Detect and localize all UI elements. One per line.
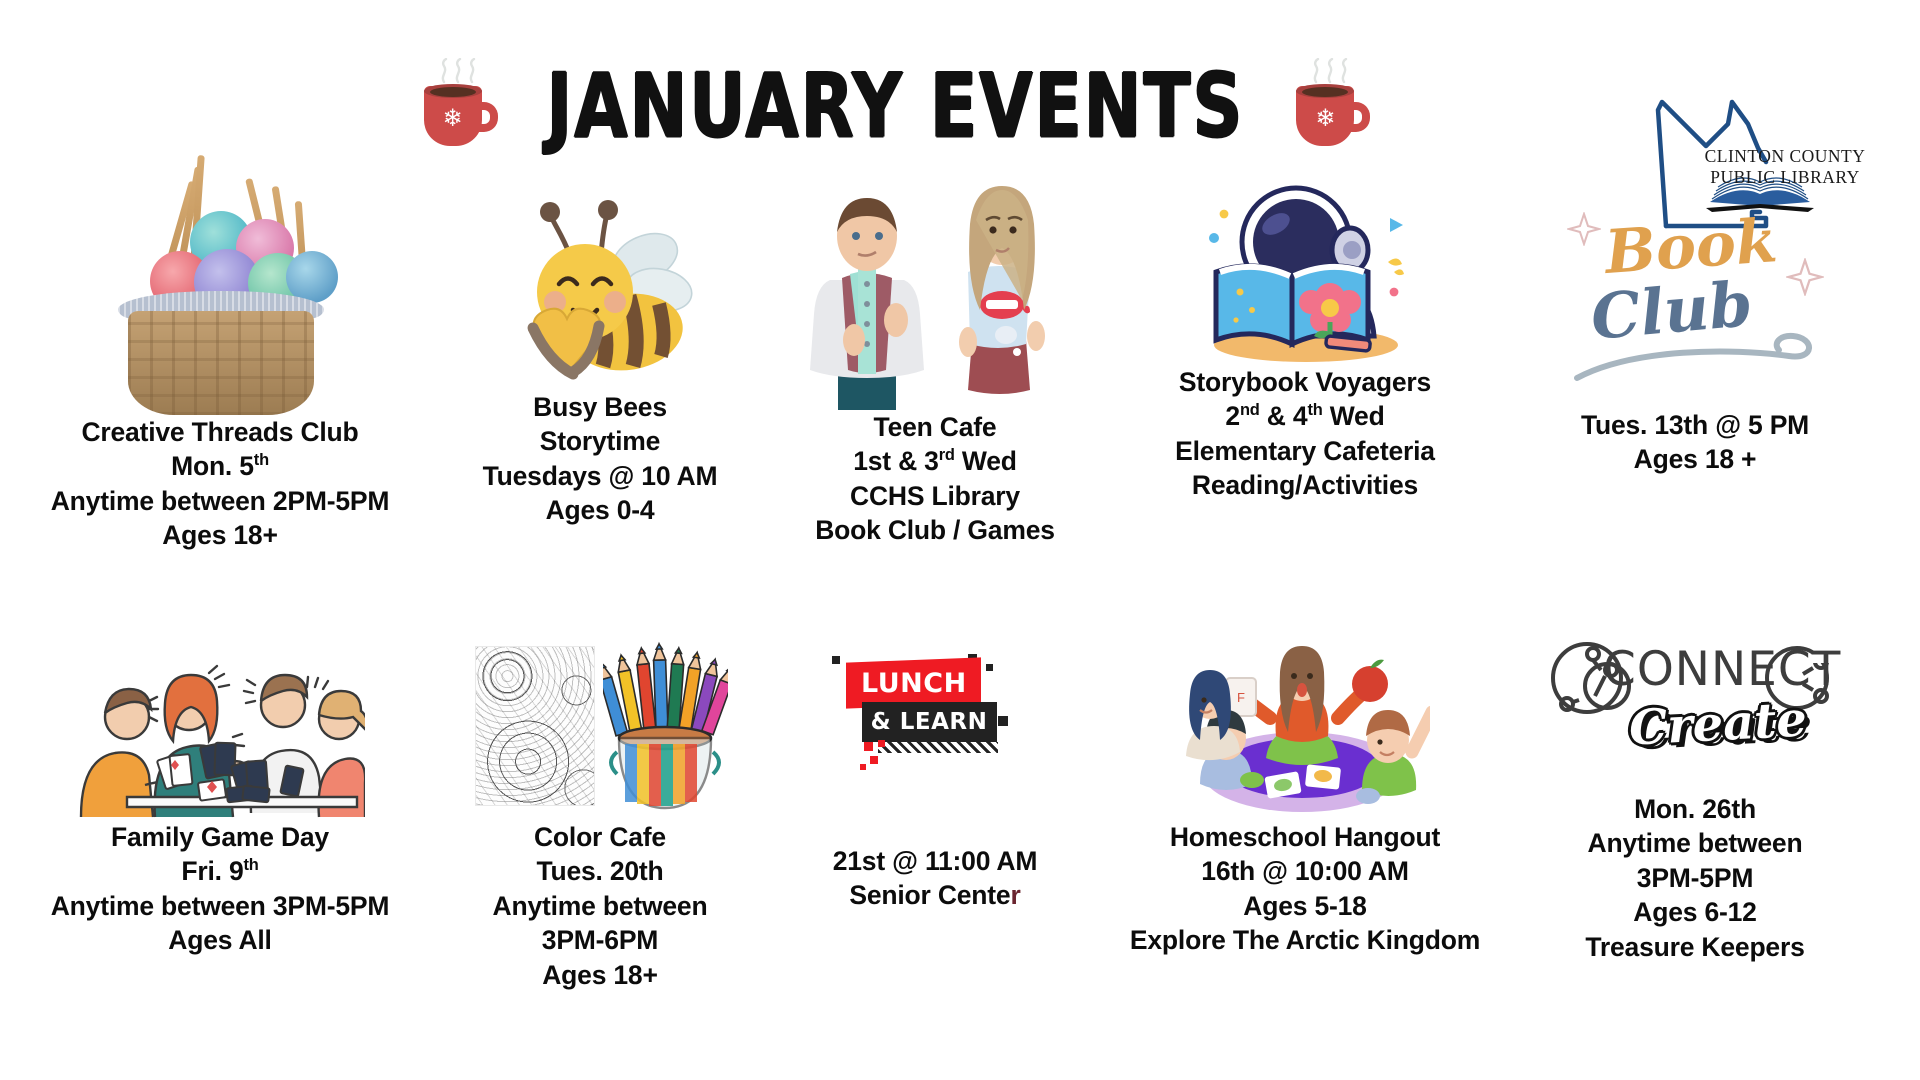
event-card-homeschool-hangout[interactable]: F	[1110, 640, 1500, 1070]
event-caption: 21st @ 11:00 AM Senior Center	[833, 844, 1038, 913]
wicker-basket	[128, 311, 314, 415]
caption-line: 1st & 3rd Wed	[815, 444, 1055, 478]
event-art	[766, 180, 1104, 410]
cocoa-surface	[430, 87, 476, 97]
event-art	[446, 640, 754, 820]
event-art	[1116, 180, 1494, 365]
event-caption: Busy Bees Storytime Tuesdays @ 10 AM Age…	[483, 390, 718, 528]
event-art	[446, 180, 754, 390]
mandala-coloring-page	[475, 646, 595, 806]
caption-line: Anytime between 2PM-5PM	[51, 484, 390, 518]
caption-line: Ages 5-18	[1130, 889, 1480, 923]
connect-create-logo: CONNECT Create	[1545, 640, 1845, 790]
caption-line: Family Game Day	[51, 820, 390, 854]
steam-icon	[1310, 58, 1354, 84]
decor-square	[998, 716, 1008, 726]
caption-line: Fri. 9th	[51, 854, 390, 888]
decor-dot	[878, 740, 885, 747]
event-card-storybook-voyagers[interactable]: Storybook Voyagers 2nd & 4th Wed Element…	[1110, 180, 1500, 600]
hot-cocoa-mug-icon-right: ❄	[1292, 58, 1370, 154]
event-card-lunch-and-learn[interactable]: LUNCH & LEARN 21st @ 11:00 AM Senior Cen…	[760, 640, 1110, 1070]
event-card-book-club[interactable]: Book Club Tues. 13th @ 5 PM Ages 18 +	[1500, 180, 1890, 600]
event-card-color-cafe[interactable]: Color Cafe Tues. 20th Anytime between 3P…	[440, 640, 760, 1070]
lunch-banner: LUNCH	[846, 657, 981, 708]
event-caption: Creative Threads Club Mon. 5th Anytime b…	[51, 415, 390, 553]
snowflake-icon: ❄	[440, 106, 466, 132]
page-title: JANUARY EVENTS	[546, 55, 1244, 157]
event-art	[6, 640, 434, 820]
caption-line: 21st @ 11:00 AM	[833, 844, 1038, 878]
caption-line: Tues. 13th @ 5 PM	[1581, 408, 1809, 442]
event-caption: Teen Cafe 1st & 3rd Wed CCHS Library Boo…	[815, 410, 1055, 548]
caption-line: Creative Threads Club	[51, 415, 390, 449]
yarn-basket-illustration	[90, 180, 350, 415]
flyer-header: ❄ JANUARY EVENTS ❄	[0, 48, 1920, 198]
create-word: Create	[1628, 691, 1809, 756]
january-events-flyer: ❄ JANUARY EVENTS ❄	[0, 0, 1920, 1080]
title-row: ❄ JANUARY EVENTS ❄	[420, 58, 1370, 154]
events-row-top: Creative Threads Club Mon. 5th Anytime b…	[0, 180, 1920, 600]
caption-line: Tuesdays @ 10 AM	[483, 459, 718, 493]
caption-line: Explore The Arctic Kingdom	[1130, 923, 1480, 957]
sparkle-icon	[1786, 258, 1824, 304]
decor-square	[986, 664, 993, 671]
caption-line: Ages 0-4	[483, 493, 718, 527]
event-art: CONNECT Create	[1506, 640, 1884, 792]
caption-line: 3PM-6PM	[493, 923, 708, 957]
bee-illustration	[493, 180, 708, 390]
event-caption: Tues. 13th @ 5 PM Ages 18 +	[1581, 408, 1809, 477]
hot-cocoa-mug-icon-left: ❄	[420, 58, 498, 154]
events-row-bottom: Family Game Day Fri. 9th Anytime between…	[0, 640, 1920, 1070]
caption-line: Reading/Activities	[1175, 468, 1435, 502]
logo-line-1: CLINTON COUNTY	[1692, 146, 1878, 167]
event-art: F	[1116, 640, 1494, 820]
caption-tinted-char: r	[1010, 880, 1020, 910]
caption-line: Ages 6-12	[1585, 895, 1804, 929]
svg-text:F: F	[1237, 690, 1245, 705]
caption-line: Anytime between 3PM-5PM	[51, 889, 390, 923]
event-card-busy-bees-storytime[interactable]: Busy Bees Storytime Tuesdays @ 10 AM Age…	[440, 180, 760, 600]
steam-icon	[438, 58, 482, 84]
pencil	[1325, 336, 1370, 352]
caption-line: Ages All	[51, 923, 390, 957]
learn-text: & LEARN	[871, 709, 988, 735]
astronaut-reading-book-illustration	[1198, 180, 1413, 365]
four-people-playing-cards-illustration	[75, 645, 365, 820]
caption-line: Treasure Keepers	[1585, 930, 1804, 964]
caption-line: Teen Cafe	[815, 410, 1055, 444]
learn-banner: & LEARN	[862, 702, 997, 742]
teen-boy	[810, 198, 924, 410]
caption-line: 16th @ 10:00 AM	[1130, 854, 1480, 888]
caption-line: Ages 18+	[51, 518, 390, 552]
open-picture-book	[1216, 266, 1368, 344]
caption-line: Anytime between	[1585, 826, 1804, 860]
caption-line: Mon. 5th	[51, 449, 390, 483]
decor-square	[832, 656, 840, 664]
event-caption: Family Game Day Fri. 9th Anytime between…	[51, 820, 390, 958]
event-caption: Homeschool Hangout 16th @ 10:00 AM Ages …	[1130, 820, 1480, 958]
caption-line: 3PM-5PM	[1585, 861, 1804, 895]
caption-line: CCHS Library	[815, 479, 1055, 513]
colored-pencils-jar	[603, 640, 728, 818]
teacher-with-children-circle-illustration: F	[1180, 640, 1430, 820]
decor-dot	[860, 764, 866, 770]
event-caption: Mon. 26th Anytime between 3PM-5PM Ages 6…	[1585, 792, 1804, 964]
caption-line: Ages 18+	[493, 958, 708, 992]
caption-line: Tues. 20th	[493, 854, 708, 888]
caption-line: Storytime	[483, 424, 718, 458]
decor-dot	[870, 756, 878, 764]
event-caption: Storybook Voyagers 2nd & 4th Wed Element…	[1175, 365, 1435, 503]
event-card-family-game-day[interactable]: Family Game Day Fri. 9th Anytime between…	[0, 640, 440, 1070]
caption-line: Color Cafe	[493, 820, 708, 854]
caption-line: Ages 18 +	[1581, 442, 1809, 476]
glass-jar	[611, 727, 719, 808]
event-art: Book Club	[1506, 194, 1884, 394]
caption-line: Book Club / Games	[815, 513, 1055, 547]
pencils	[603, 644, 728, 736]
caption-line: Homeschool Hangout	[1130, 820, 1480, 854]
snowflake-icon: ❄	[1312, 106, 1338, 132]
event-card-teen-cafe[interactable]: Teen Cafe 1st & 3rd Wed CCHS Library Boo…	[760, 180, 1110, 600]
event-art	[6, 180, 434, 415]
caption-line: Storybook Voyagers	[1175, 365, 1435, 399]
caption-line: Senior Center	[833, 878, 1038, 912]
event-card-connect-create[interactable]: CONNECT Create Mon. 26th Anytime between…	[1500, 640, 1890, 1070]
caption-line: Elementary Cafeteria	[1175, 434, 1435, 468]
caption-line: 2nd & 4th Wed	[1175, 399, 1435, 433]
hatch-stripe	[878, 742, 998, 753]
lunch-and-learn-badge: LUNCH & LEARN	[828, 654, 1043, 774]
decor-dot	[864, 742, 873, 751]
honey-heart	[533, 309, 600, 374]
event-card-creative-threads-club[interactable]: Creative Threads Club Mon. 5th Anytime b…	[0, 180, 440, 600]
teen-boy-and-girl-illustration	[790, 180, 1080, 410]
teen-girl	[959, 186, 1045, 394]
book-club-script-logo: Book Club	[1553, 194, 1838, 394]
sparkle-icon	[1567, 212, 1601, 254]
connect-word: CONNECT	[1603, 642, 1841, 697]
caption-line: Mon. 26th	[1585, 792, 1804, 826]
event-art: LUNCH & LEARN	[766, 640, 1104, 820]
caption-line: Busy Bees	[483, 390, 718, 424]
caption-line: Anytime between	[493, 889, 708, 923]
coloring-page-and-colored-pencils-illustration	[473, 640, 728, 820]
lunch-text: LUNCH	[860, 668, 966, 699]
event-caption: Color Cafe Tues. 20th Anytime between 3P…	[493, 820, 708, 992]
swirl-underline	[1553, 326, 1838, 386]
